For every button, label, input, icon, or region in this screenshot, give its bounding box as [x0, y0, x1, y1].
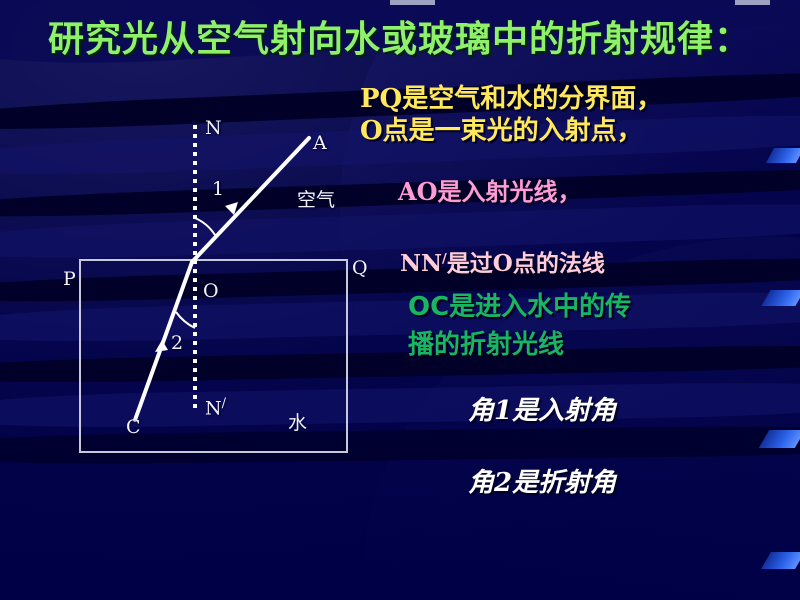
label-A: A: [313, 132, 327, 154]
note-angle1: 角1是入射角: [468, 390, 616, 427]
label-N-prime-mark: /: [222, 396, 226, 411]
label-P: P: [63, 268, 76, 290]
refracted-ray-arrow: [155, 340, 168, 352]
label-angle1: 1: [212, 178, 224, 200]
accent-slash-4: [761, 552, 800, 569]
window-chrome-mark-left: [390, 0, 435, 5]
page-title: 研究光从空气射向水或玻璃中的折射规律：: [48, 16, 760, 63]
refraction-diagram: N A 1 空气 P Q O 2 N/ C 水: [0, 100, 400, 480]
note-o-point: O点是一束光的入射点，: [360, 110, 643, 147]
label-N-prime-letter: N: [205, 397, 222, 419]
slide-canvas: 研究光从空气射向水或玻璃中的折射规律： PQ是空气和水的分界面， O点是一束光的…: [0, 0, 800, 600]
label-N-prime: N/: [205, 396, 226, 419]
note-nn: NN/是过O点的法线: [400, 244, 605, 278]
angle2-arc: [176, 312, 195, 328]
window-chrome-mark-right: [735, 0, 770, 5]
label-water: 水: [288, 408, 307, 435]
note-oc-line2: 播的折射光线: [408, 324, 564, 361]
refracted-ray: [135, 262, 192, 420]
note-oc-line1: OC是进入水中的传: [408, 286, 631, 323]
accent-slash-3: [759, 430, 800, 448]
refraction-diagram-svg: [0, 100, 400, 480]
label-Q: Q: [352, 257, 368, 279]
accent-slash-1: [766, 148, 800, 163]
label-C: C: [126, 416, 141, 438]
note-nn-text: NN/是过O点的法线: [400, 250, 605, 277]
accent-slash-2: [761, 290, 800, 306]
incident-ray: [192, 138, 309, 262]
label-N: N: [205, 117, 222, 139]
label-air: 空气: [297, 185, 335, 212]
label-angle2: 2: [171, 332, 183, 354]
note-ao: AO是入射光线，: [398, 172, 582, 207]
label-O: O: [203, 280, 219, 302]
angle1-arc: [195, 218, 215, 235]
note-angle2: 角2是折射角: [468, 462, 616, 499]
